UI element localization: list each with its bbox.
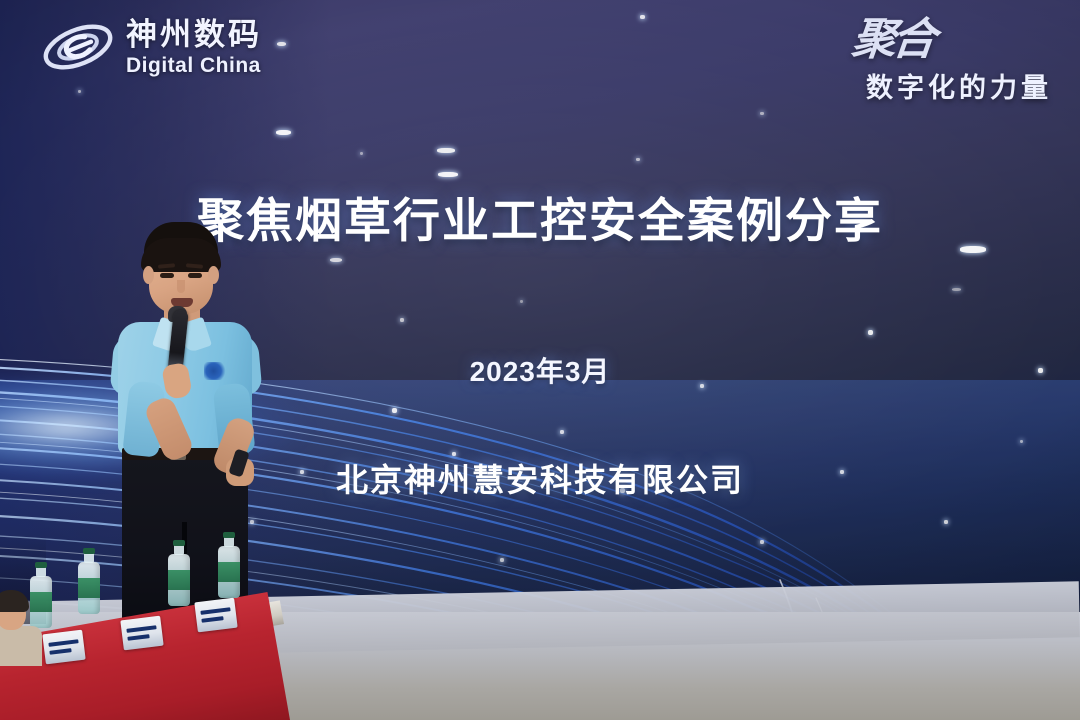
speaker-chest-logo-icon: [204, 362, 228, 380]
bottle-label: [218, 562, 240, 582]
speaker-right-eye: [188, 273, 202, 278]
name-card: [120, 616, 163, 651]
brand-logo: 神州数码 Digital China: [40, 16, 262, 78]
conference-stage-photo: 神州数码 Digital China 聚合 数字化的力量 聚焦烟草行业工控安全案…: [0, 0, 1080, 720]
particle-dot: [760, 112, 764, 115]
particle-dot: [520, 300, 523, 303]
brand-name-english: Digital China: [126, 55, 262, 76]
name-card-line: [127, 634, 149, 641]
name-card-line: [126, 625, 156, 633]
particle-dot: [360, 152, 363, 155]
speaker-left-ear: [143, 266, 154, 284]
brand-name-chinese: 神州数码: [126, 19, 262, 50]
water-bottle: [78, 562, 100, 614]
particle-dot: [640, 15, 645, 19]
name-card-line: [200, 607, 230, 615]
bottle-label: [168, 570, 190, 590]
name-card: [42, 630, 85, 665]
particle-dot: [400, 318, 404, 322]
speaker-left-eye: [160, 273, 174, 278]
name-card-line: [49, 648, 71, 655]
seated-attendee: [0, 596, 44, 662]
water-bottle: [218, 546, 240, 598]
water-bottle: [168, 554, 190, 606]
speaker-fringe: [141, 238, 221, 272]
campaign-subtitle: 数字化的力量: [852, 66, 1052, 105]
attendee-body: [0, 626, 42, 666]
name-card: [194, 598, 237, 633]
campaign-calligraphy-mark: 聚合: [850, 18, 935, 62]
speaker-right-ear: [208, 266, 219, 284]
particle-dot: [636, 158, 640, 161]
particle-dot: [438, 172, 458, 177]
particle-dot: [437, 148, 455, 153]
particle-dot: [330, 258, 342, 262]
particle-dot: [952, 288, 961, 291]
bottle-label: [78, 578, 100, 598]
spiral-galaxy-logo-icon: [40, 16, 116, 78]
name-card-line: [48, 639, 78, 647]
name-card-line: [201, 616, 223, 623]
speaker-nose: [177, 280, 185, 293]
campaign-branding: 聚合 数字化的力量: [852, 18, 1052, 105]
